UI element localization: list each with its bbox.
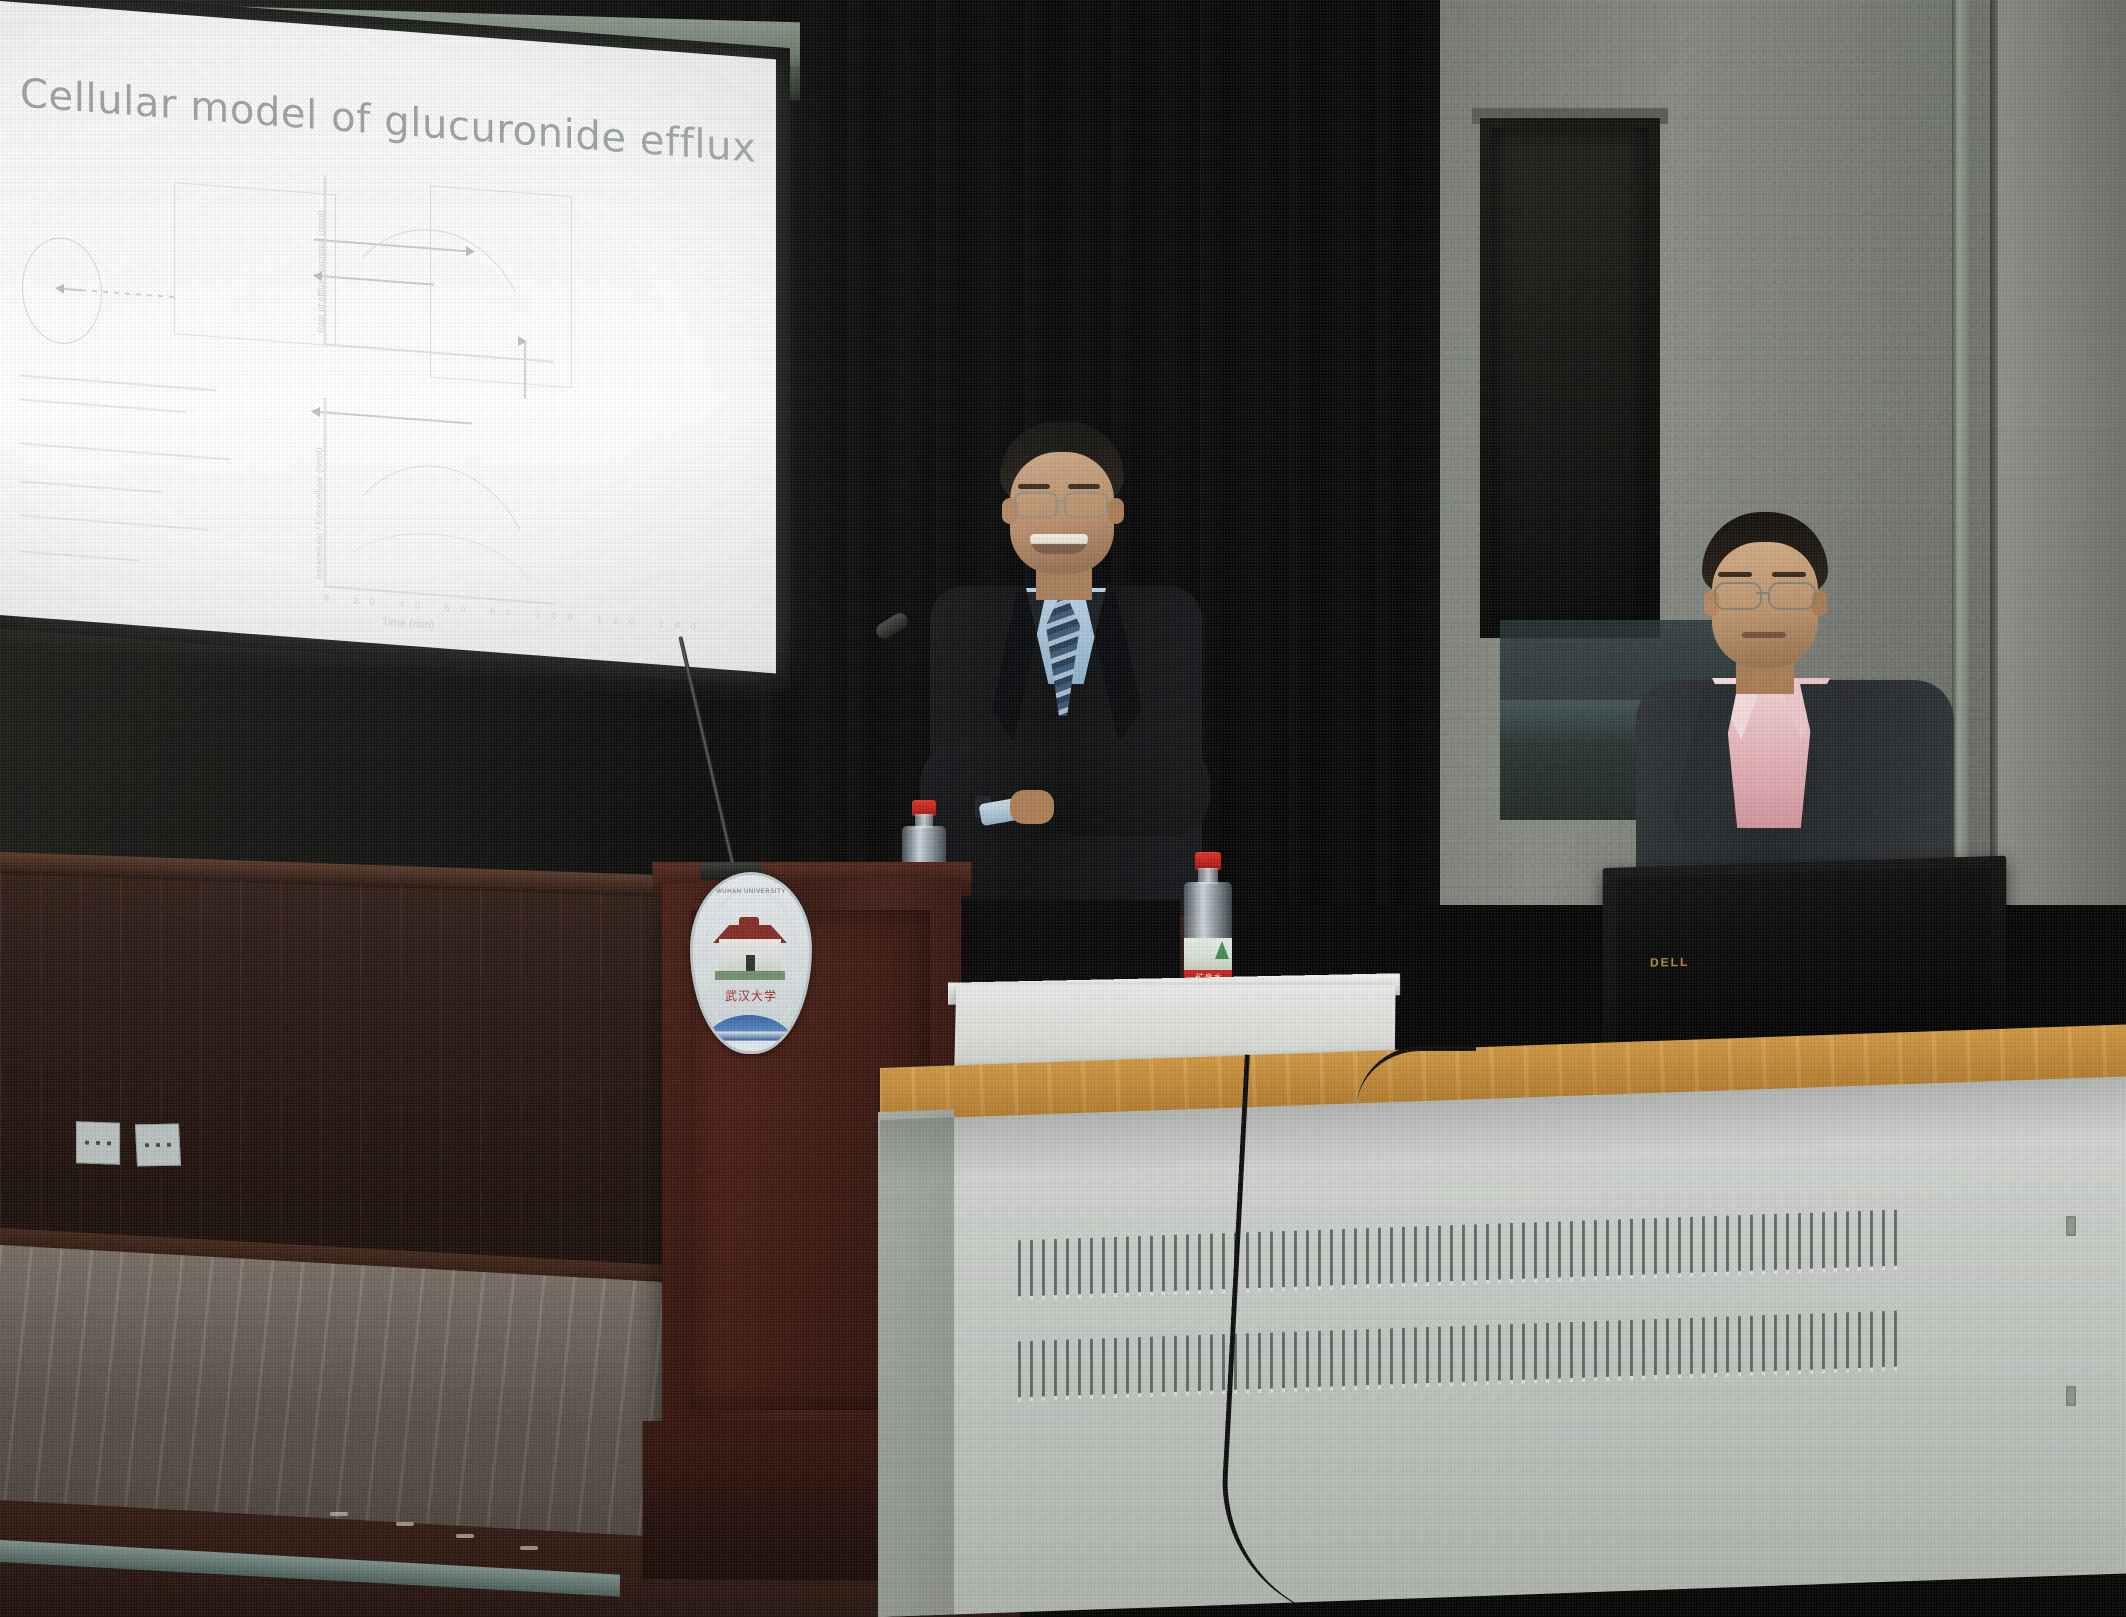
door-panel[interactable] xyxy=(1492,128,1648,626)
chart-top: Rate of efflux / excreted (nmol) xyxy=(324,175,554,362)
projection-screen: Cellular model of glucuronide efflux Rat… xyxy=(0,1,776,674)
chairman-brow-right xyxy=(1772,572,1806,577)
speaker-brow-right xyxy=(1068,484,1100,489)
slide-text-line-5 xyxy=(20,515,208,531)
speaker-smile xyxy=(1030,534,1088,554)
slide-title: Cellular model of glucuronide efflux xyxy=(20,71,756,172)
speaker-brow-left xyxy=(1018,484,1050,489)
slide-text-line-1 xyxy=(20,375,216,391)
far-right-wall xyxy=(1998,0,2126,905)
chairman-glasses-bridge xyxy=(1756,592,1770,594)
cell-outer-box xyxy=(174,182,336,346)
wall-pilaster-a xyxy=(1952,0,1968,905)
crest-lawn xyxy=(715,971,785,980)
crest-chinese-text: 武汉大学 xyxy=(693,987,809,1004)
wall-socket-right[interactable] xyxy=(135,1124,181,1167)
wall-pilaster-b xyxy=(1990,0,1998,905)
slide-text-line-6 xyxy=(20,551,140,562)
speaker-glasses-right-lens xyxy=(1064,492,1108,518)
crest-english-text: WUHAN UNIVERSITY xyxy=(693,889,809,895)
speaker-hand xyxy=(1010,790,1054,824)
slide-text-line-3 xyxy=(20,443,230,460)
speaker-glasses-left-lens xyxy=(1014,492,1058,518)
crest-building-door xyxy=(746,955,755,971)
slide-text-line-4 xyxy=(20,481,162,493)
podium-side-panel xyxy=(878,1109,954,1617)
chairman-mouth xyxy=(1742,632,1786,638)
podium-screw-bottom xyxy=(2066,1386,2076,1406)
speaker-glasses-bridge xyxy=(1054,500,1066,502)
chairman-glasses-left-lens xyxy=(1714,582,1762,610)
chairman-brow-left xyxy=(1718,572,1752,577)
chart-top-ylabel: Rate of efflux / excreted (nmol) xyxy=(316,210,326,334)
podium-screw-top xyxy=(2066,1216,2076,1236)
chart-bottom-xlabel: Time (min) xyxy=(382,616,434,632)
dell-logo: DELL xyxy=(1650,954,1710,971)
chairman-glasses-right-lens xyxy=(1768,582,1816,610)
speaker-arm-right xyxy=(1060,740,1210,836)
slide-text-line-2 xyxy=(20,399,186,413)
wall-socket-left[interactable] xyxy=(76,1121,120,1165)
photograph-scene: Cellular model of glucuronide efflux Rat… xyxy=(0,0,2126,1617)
crest-building-cupola xyxy=(739,917,759,929)
power-cable xyxy=(1216,1054,1470,1617)
chart-bottom-ylabel: Intracellular / Extracellular (nmol) xyxy=(314,447,324,579)
speaker-ear-right xyxy=(1108,498,1124,524)
chart-bottom: Intracellular / Extracellular (nmol) 0 2… xyxy=(324,397,554,604)
